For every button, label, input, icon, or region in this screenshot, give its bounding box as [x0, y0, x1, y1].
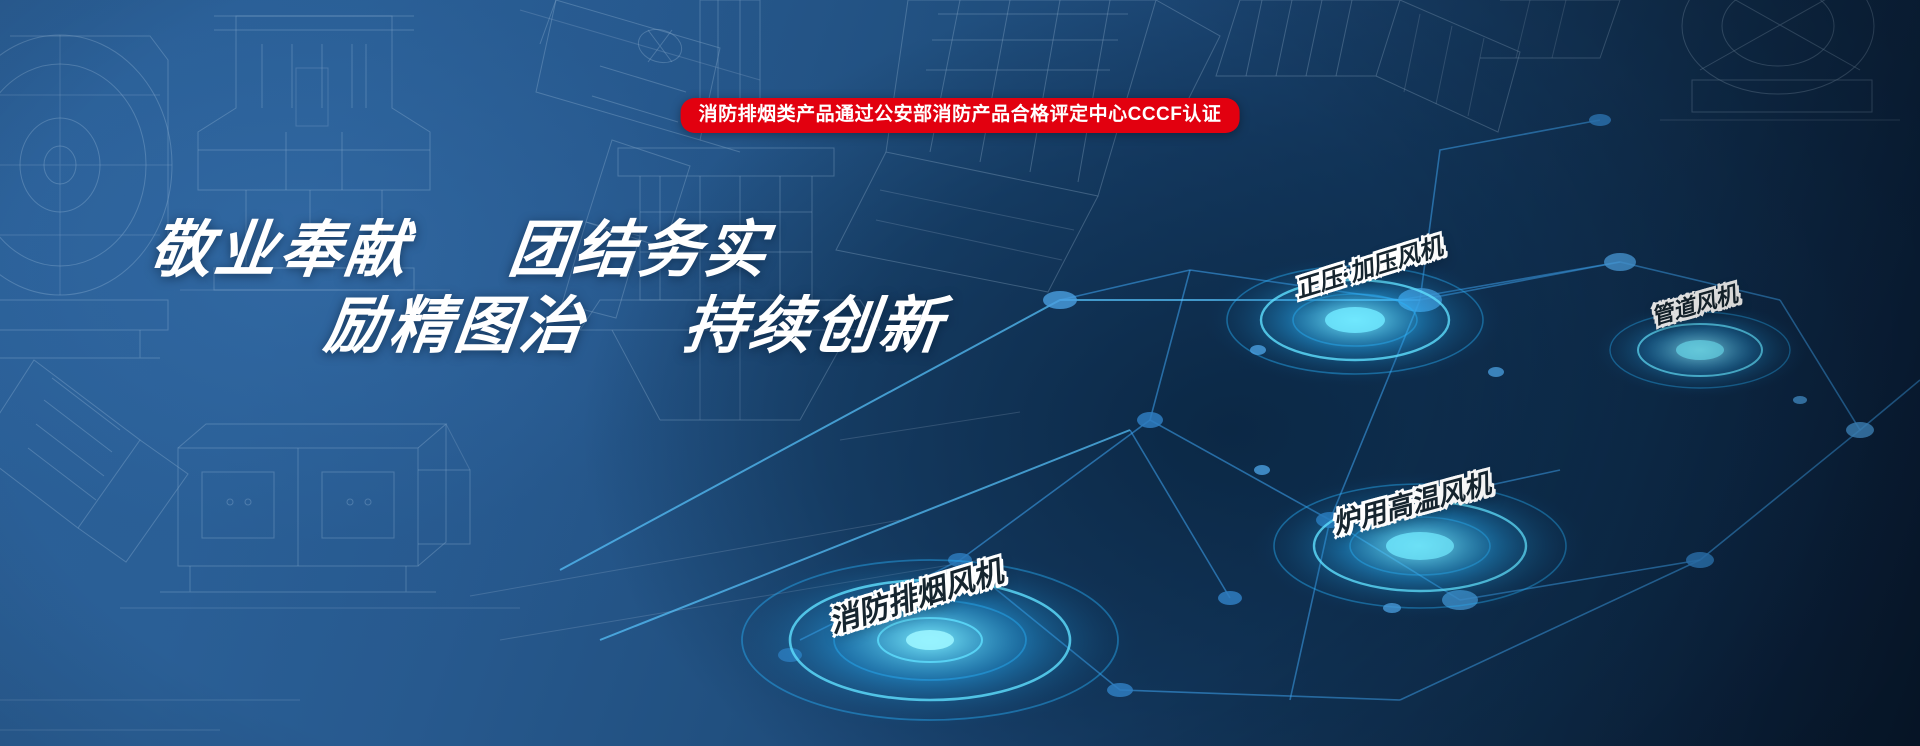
hero-banner-stage: 消防排烟类产品通过公安部消防产品合格评定中心CCCF认证 敬业奉献 团结务实 励… [0, 0, 1920, 746]
certification-banner: 消防排烟类产品通过公安部消防产品合格评定中心CCCF认证 [681, 98, 1240, 133]
